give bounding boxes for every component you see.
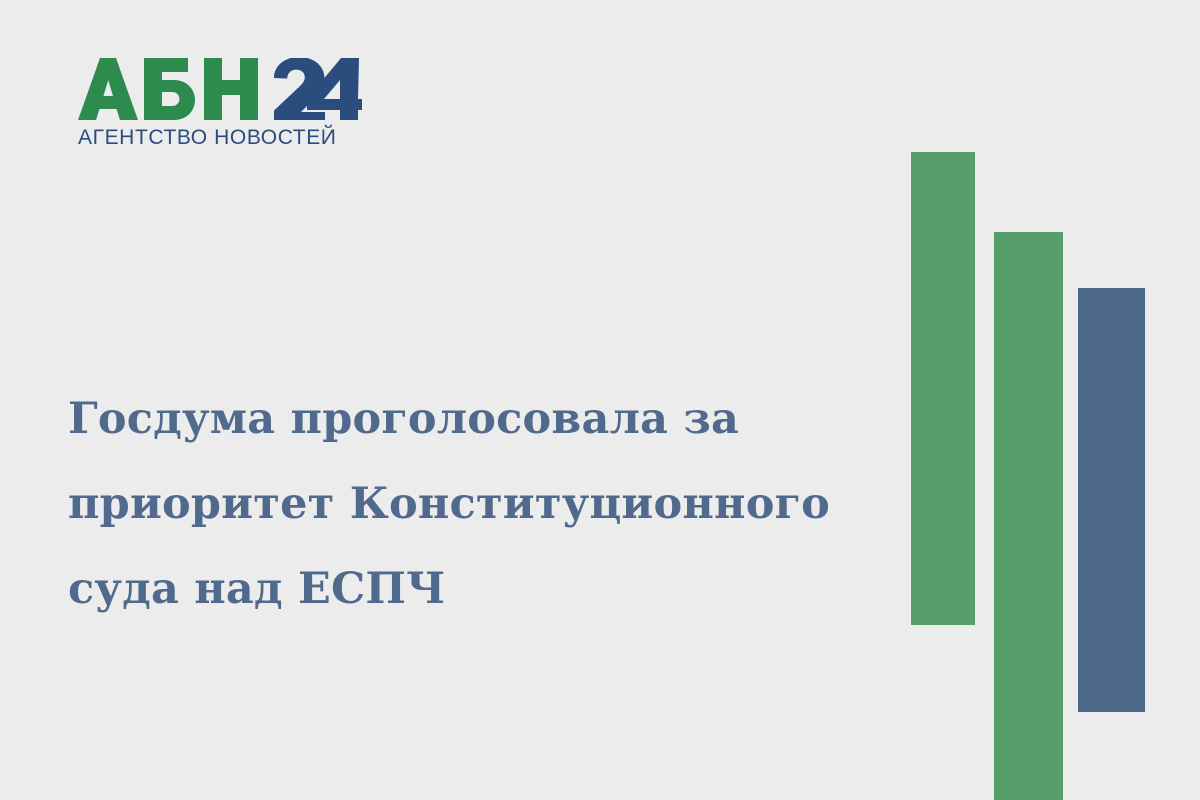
decorative-bar-2: [994, 232, 1063, 800]
headline-line-2: приоритет Конституционного: [68, 462, 878, 547]
news-card: АГЕНТСТВО НОВОСТЕЙ Госдума проголосовала…: [0, 0, 1200, 800]
logo-tagline-text: АГЕНТСТВО НОВОСТЕЙ: [78, 125, 337, 149]
headline-line-1: Госдума проголосовала за: [68, 377, 878, 462]
logo-tagline: АГЕНТСТВО НОВОСТЕЙ: [78, 124, 362, 150]
logo-letters-24: [274, 58, 362, 120]
logo-mark-icon: [78, 58, 362, 120]
logo[interactable]: АГЕНТСТВО НОВОСТЕЙ: [78, 58, 378, 150]
logo-letters-abn: [78, 58, 258, 120]
page-title: Госдума проголосовала за приоритет Конст…: [68, 377, 878, 632]
headline-line-3: суда над ЕСПЧ: [68, 547, 878, 632]
decorative-bar-1: [911, 152, 975, 625]
decorative-bar-3: [1078, 288, 1145, 712]
